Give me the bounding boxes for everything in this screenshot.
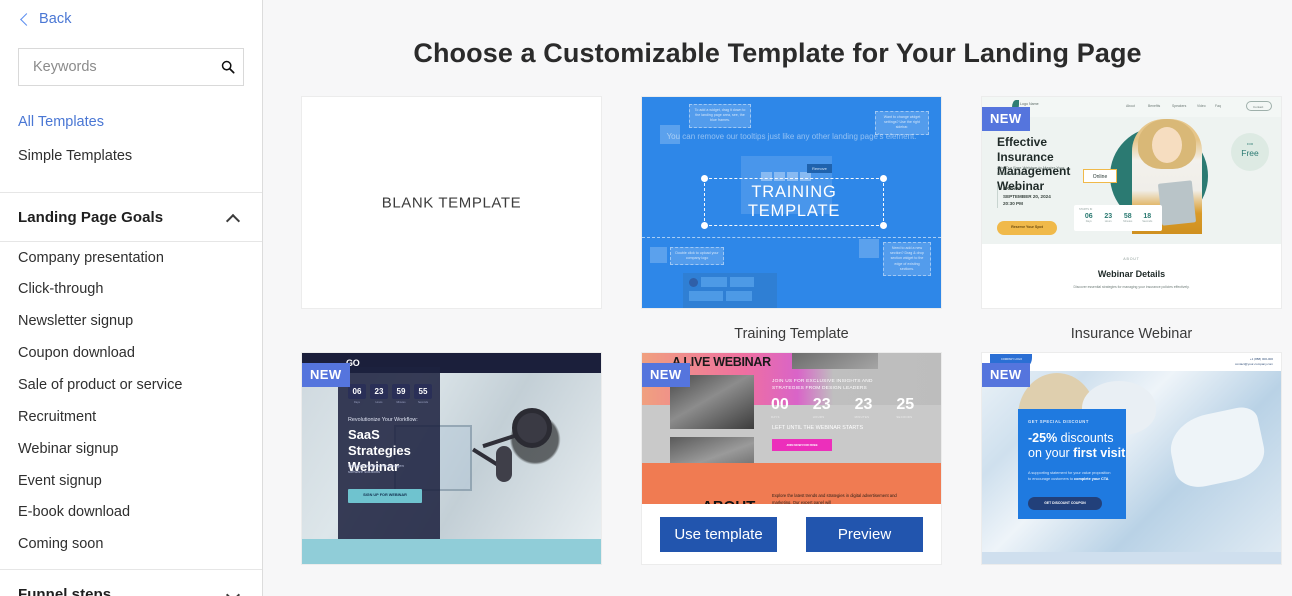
sidebar-item-recruitment[interactable]: Recruitment <box>0 401 262 433</box>
countdown-unit: 18Seconds <box>1138 213 1158 223</box>
countdown-unit: 58Minutes <box>1118 213 1138 223</box>
headline-discount: -25% <box>1028 431 1057 445</box>
sidebar-item-label: Click-through <box>18 281 103 297</box>
sidebar-group-landing-page-goals[interactable]: Landing Page Goals <box>0 193 262 241</box>
countdown-timer: 00DAYS 23HOURS 23MINUTES 25SECONDS <box>771 397 914 419</box>
nav-link: Benefits <box>1148 104 1160 108</box>
template-card-dental[interactable]: NEW COMPANY LOGO +1 (888) 000-000 contac… <box>981 352 1282 582</box>
section-widget-icon <box>859 239 879 258</box>
hero-photo-top <box>792 353 878 369</box>
sidebar-item-label: Company presentation <box>18 250 164 266</box>
about-title: Webinar Details <box>982 269 1281 279</box>
search-input[interactable] <box>33 59 220 75</box>
tooltip-add-widget: To add a widget, drag it down to the lan… <box>689 104 751 128</box>
selection-frame[interactable]: TRAINING TEMPLATE <box>704 178 884 226</box>
countdown-unit: 23Hours <box>1099 213 1119 223</box>
sidebar-group-funnel-steps[interactable]: Funnel steps <box>0 570 262 596</box>
sidebar-item-webinar-signup[interactable]: Webinar signup <box>0 433 262 465</box>
preview-subheadline: You can remove our tooltips just like an… <box>642 131 941 143</box>
sidebar-item-click-through[interactable]: Click-through <box>0 274 262 306</box>
template-card-training[interactable]: To add a widget, drag it down to the lan… <box>641 96 942 342</box>
countdown-unit: 06Days <box>1079 213 1099 223</box>
back-button[interactable]: Back <box>0 0 262 27</box>
preview-subheadline: Join Our Free Webinar to Master Your Ins… <box>997 165 1075 177</box>
sidebar-item-label: E-book download <box>18 504 130 520</box>
page-title: Choose a Customizable Template for Your … <box>263 0 1292 69</box>
sidebar-item-label: Sale of product or service <box>18 377 182 393</box>
chevron-left-icon <box>19 14 30 25</box>
preview-description: A supporting statement for your value pr… <box>1028 471 1112 483</box>
nav-link: Speakers <box>1172 104 1186 108</box>
sidebar-group-title: Funnel steps <box>18 586 111 596</box>
font-family-select <box>689 291 723 301</box>
section-divider <box>642 237 941 238</box>
resize-handle-top-left[interactable] <box>701 175 708 182</box>
nav-link: Video <box>1197 104 1206 108</box>
badge-online: Online <box>1083 169 1117 183</box>
badge-free: FOR Free <box>1231 133 1269 171</box>
font-case-select <box>726 291 752 301</box>
preview-tagline: JOIN US FOR EXCLUSIVE INSIGHTS AND STRAT… <box>772 378 897 393</box>
countdown-unit: 25SECONDS <box>896 397 914 419</box>
headline-onyour: on your <box>1028 446 1073 460</box>
countdown-unit: 59Minutes <box>392 384 410 404</box>
template-thumbnail[interactable]: NEW GO 06Days 23Hours 59Min <box>301 352 602 565</box>
countdown-unit: 06Days <box>348 384 366 404</box>
nav-cta-label: Contact <box>1253 105 1263 109</box>
countdown-unit: 23HOURS <box>813 397 831 419</box>
app-root: Back All Templates Simple Templates Land… <box>0 0 1292 596</box>
sidebar-item-label: Recruitment <box>18 409 96 425</box>
preview-cta-button: GET DISCOUNT COUPON <box>1028 497 1102 510</box>
preview-cta-label: JOIN NOW FOR FREE <box>772 443 832 447</box>
decor-microphone <box>482 408 556 494</box>
line-height-field <box>730 277 754 287</box>
about-kicker: ABOUT <box>982 257 1281 261</box>
preview-description: Exclusive insights into next-gen softwar… <box>348 463 410 475</box>
status-badge-new: NEW <box>302 363 350 387</box>
preview-kicker: GET SPECIAL DISCOUNT <box>1028 419 1089 424</box>
sidebar-item-label: Newsletter signup <box>18 313 133 329</box>
status-badge-new: NEW <box>642 363 690 387</box>
logo-text: Logo Name <box>1020 102 1039 106</box>
search-box[interactable] <box>18 48 244 86</box>
template-card-label: Training Template <box>641 309 942 342</box>
training-template-preview: To add a widget, drag it down to the lan… <box>642 97 941 308</box>
back-label: Back <box>39 11 72 27</box>
countdown-timer: STARTS IN 06Days 23Hours 58Minutes 18Sec… <box>1074 205 1162 231</box>
preview-cta-button: Reserve Your Spot <box>997 221 1057 235</box>
resize-handle-bottom-right[interactable] <box>880 222 887 229</box>
template-card-label: Insurance Webinar <box>981 309 1282 342</box>
preview-cta-label: Reserve Your Spot <box>997 225 1057 229</box>
status-badge-new: NEW <box>982 363 1030 387</box>
template-thumbnail[interactable]: BLANK TEMPLATE <box>301 96 602 309</box>
preview-overlay-panel: GET SPECIAL DISCOUNT -25% discounts on y… <box>1018 409 1126 519</box>
tooltip-add-section: Need to add a new section? Drag & drop s… <box>883 242 931 276</box>
preview-cta-button: SIGN UP FOR WEBINAR <box>348 489 422 503</box>
sidebar-item-newsletter-signup[interactable]: Newsletter signup <box>0 306 262 338</box>
status-badge-new: NEW <box>982 107 1030 131</box>
template-hover-actions: Use template Preview <box>642 504 941 564</box>
template-thumbnail[interactable]: To add a widget, drag it down to the lan… <box>641 96 942 309</box>
countdown-label: STARTS IN <box>1079 208 1092 211</box>
nav-cta-button: Contact <box>1246 101 1272 111</box>
top-links: All Templates Simple Templates <box>0 86 262 173</box>
template-card-saas[interactable]: NEW GO 06Days 23Hours 59Min <box>301 352 602 582</box>
sidebar-group-title: Landing Page Goals <box>18 209 163 226</box>
sidebar-item-simple-templates[interactable]: Simple Templates <box>0 140 262 174</box>
sidebar-item-company-presentation[interactable]: Company presentation <box>0 242 262 274</box>
search-icon[interactable] <box>220 59 236 75</box>
preview-cta-label: SIGN UP FOR WEBINAR <box>348 493 422 497</box>
main-content: Choose a Customizable Template for Your … <box>263 0 1292 596</box>
remove-chip: Remove <box>807 164 832 173</box>
preview-cta-button: JOIN NOW FOR FREE <box>772 439 832 451</box>
badge-free-kicker: FOR <box>1231 142 1269 146</box>
font-size-field <box>701 277 727 287</box>
sidebar-item-label: Webinar signup <box>18 441 119 457</box>
countdown-unit: 23MINUTES <box>855 397 873 419</box>
countdown-caption: LEFT UNTIL THE WEBINAR STARTS <box>772 425 863 431</box>
countdown-timer: 06Days 23Hours 59Minutes 55Seconds <box>348 384 432 404</box>
sidebar-item-sale-of-product-or-service[interactable]: Sale of product or service <box>0 370 262 402</box>
color-swatch <box>689 278 698 287</box>
logo-text: COMPANY LOGO <box>1001 358 1022 361</box>
countdown-unit: 23Hours <box>370 384 388 404</box>
nav-link: Faq <box>1215 104 1221 108</box>
resize-handle-bottom-left[interactable] <box>701 222 708 229</box>
sidebar-item-label: Event signup <box>18 473 102 489</box>
template-card-label <box>301 565 602 582</box>
template-card-blank[interactable]: BLANK TEMPLATE <box>301 96 602 342</box>
template-card-insurance[interactable]: NEW Logo Name About Benefits Speakers Vi… <box>981 96 1282 342</box>
sidebar-item-label: Coming soon <box>18 536 103 552</box>
sidebar-item-coupon-download[interactable]: Coupon download <box>0 338 262 370</box>
template-card-label <box>641 565 942 582</box>
selection-text: TRAINING TEMPLATE <box>705 183 883 221</box>
chevron-down-icon[interactable] <box>227 588 240 596</box>
template-card-label <box>981 565 1282 582</box>
preview-button[interactable]: Preview <box>806 517 923 552</box>
hero-clipboard <box>1158 180 1196 225</box>
badge-free-label: Free <box>1231 148 1269 158</box>
resize-handle-top-right[interactable] <box>880 175 887 182</box>
headline-discounts: discounts <box>1057 431 1113 445</box>
chevron-up-icon[interactable] <box>227 211 240 224</box>
preview-kicker: Revolutionize Your Workflow: <box>348 417 418 423</box>
template-card-label <box>301 309 602 326</box>
blank-template-label: BLANK TEMPLATE <box>302 194 601 211</box>
nav-link: About <box>1126 104 1135 108</box>
use-template-button[interactable]: Use template <box>660 517 777 552</box>
about-subtitle: Discover essential strategies for managi… <box>982 285 1281 289</box>
preview-footer <box>982 552 1281 564</box>
countdown-unit: 55Seconds <box>414 384 432 404</box>
template-grid: BLANK TEMPLATE To add a widget, drag it … <box>263 69 1292 582</box>
sidebar-item-label: Simple Templates <box>18 148 132 164</box>
sidebar-item-label: Coupon download <box>18 345 135 361</box>
preview-footer <box>302 539 601 564</box>
badge-online-label: Online <box>1084 174 1116 180</box>
preview-cta-label: GET DISCOUNT COUPON <box>1028 501 1102 505</box>
sidebar: Back All Templates Simple Templates Land… <box>0 0 263 596</box>
template-thumbnail[interactable]: NEW JOIN US FOR A LIVE WEBINAR JOIN US F… <box>641 352 942 565</box>
sidebar-item-coming-soon[interactable]: Coming soon <box>0 529 262 561</box>
template-card-live-webinar[interactable]: NEW JOIN US FOR A LIVE WEBINAR JOIN US F… <box>641 352 942 582</box>
sidebar-item-event-signup[interactable]: Event signup <box>0 465 262 497</box>
headline-firstvisit: first visit <box>1073 446 1125 460</box>
image-widget-icon <box>650 247 667 263</box>
sidebar-item-label: All Templates <box>18 114 104 130</box>
template-thumbnail[interactable]: NEW COMPANY LOGO +1 (888) 000-000 contac… <box>981 352 1282 565</box>
template-thumbnail[interactable]: NEW Logo Name About Benefits Speakers Vi… <box>981 96 1282 309</box>
preview-date: FRIDAY SEPTEMBER 20, 2024 20:30 PM <box>997 185 1051 208</box>
sidebar-item-all-templates[interactable]: All Templates <box>0 106 262 140</box>
hero-face <box>1152 127 1182 163</box>
sidebar-item-e-book-download[interactable]: E-book download <box>0 497 262 529</box>
countdown-unit: 00DAYS <box>771 397 789 419</box>
preview-headline: -25% discounts on your first visit <box>1028 431 1126 461</box>
sidebar-group-items-landing-page-goals: Company presentation Click-through Newsl… <box>0 242 262 566</box>
contact-info: +1 (888) 000-000 contact@your-company.co… <box>1235 357 1273 367</box>
tooltip-upload-logo: Double click to upload your company logo <box>670 247 724 265</box>
